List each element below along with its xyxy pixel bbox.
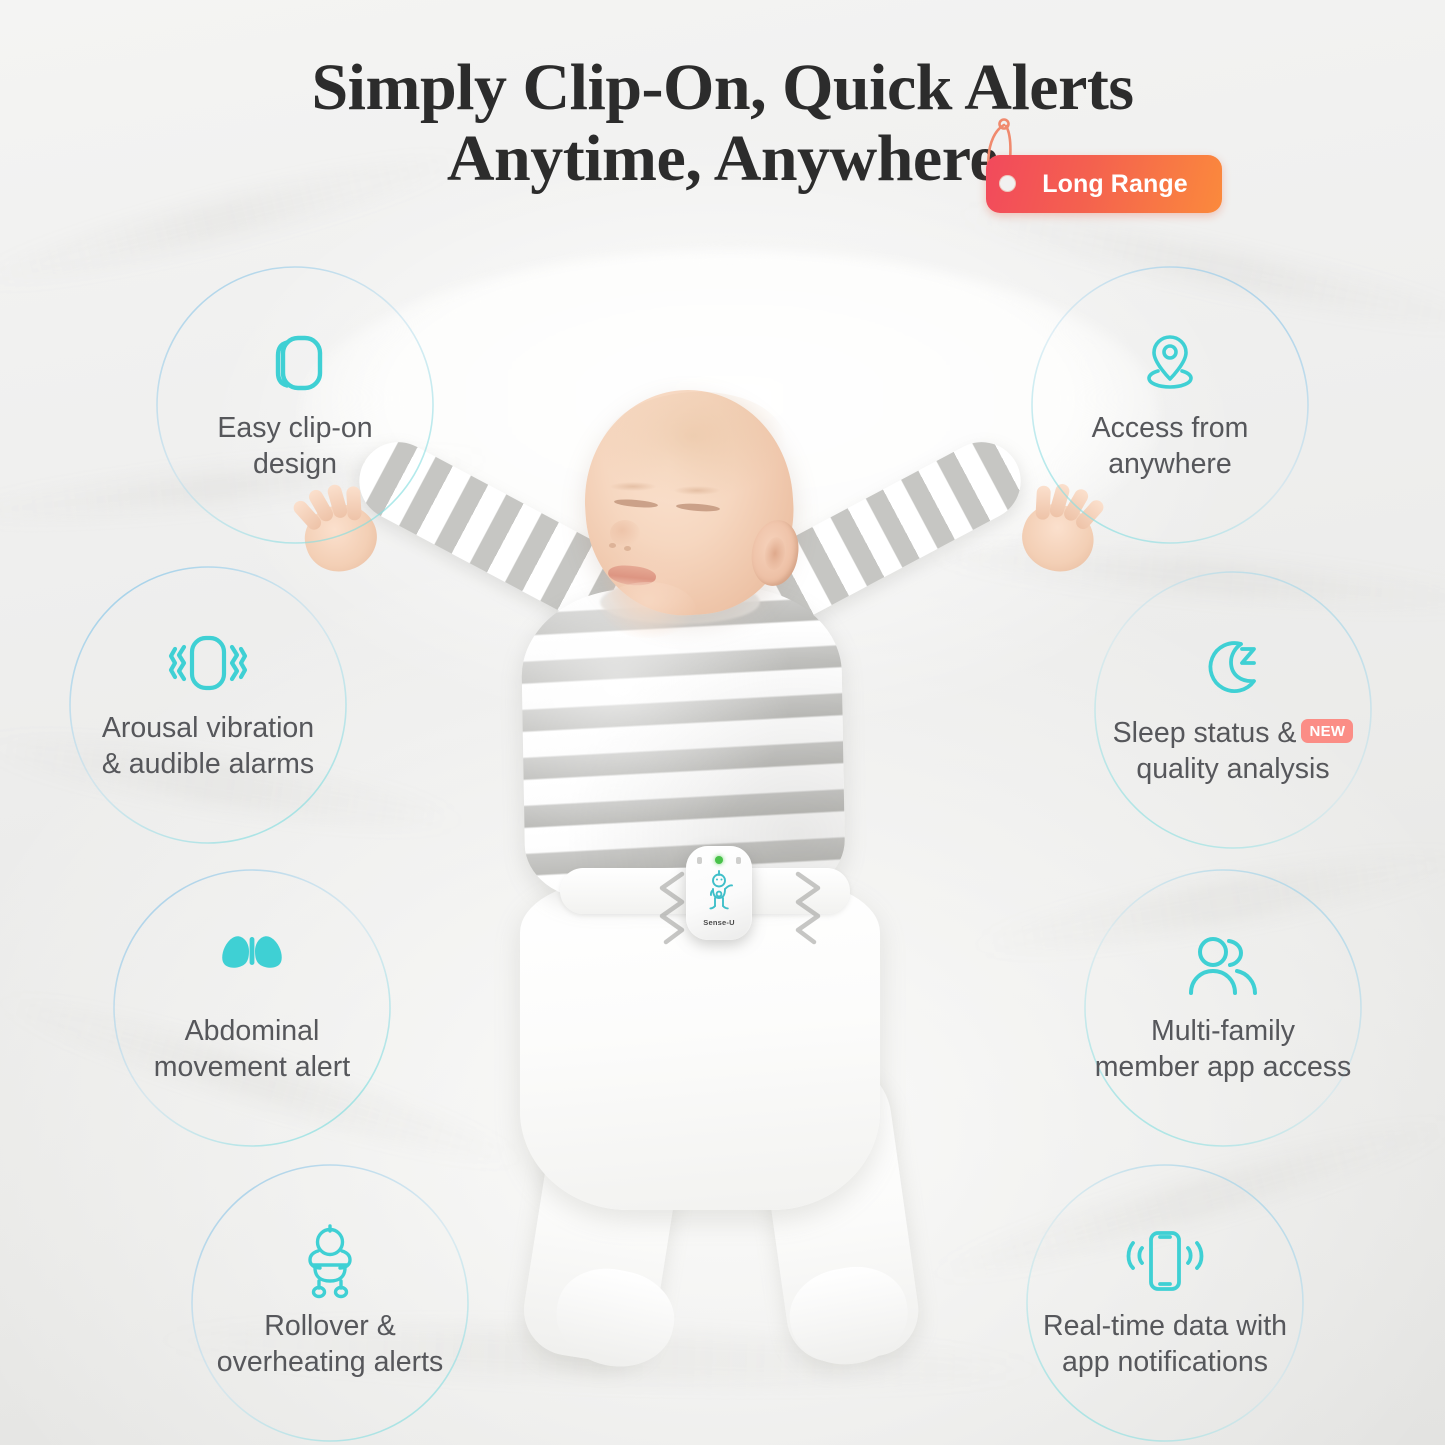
status-led-icon <box>715 856 723 864</box>
feature-label-line: Rollover & <box>217 1308 444 1344</box>
feature-label-line: movement alert <box>154 1049 350 1085</box>
feature-sleep-status: Sleep status &NEW quality analysis <box>1093 570 1373 850</box>
feature-access-from-anywhere: Access from anywhere <box>1030 265 1310 545</box>
feature-label-line: design <box>217 446 372 482</box>
feature-easy-clip-on: Easy clip-on design <box>155 265 435 545</box>
feature-label: Rollover & overheating alerts <box>217 1308 444 1381</box>
feature-label: Access from anywhere <box>1092 410 1249 483</box>
battery-led-icon <box>697 857 702 864</box>
new-badge: NEW <box>1301 719 1353 743</box>
headline-line-2: Anytime, Anywhere <box>447 123 998 194</box>
feature-label-line: Easy clip-on <box>217 410 372 446</box>
feature-label-line: & audible alarms <box>102 746 314 782</box>
baby-rollover-icon <box>299 1226 361 1296</box>
infographic-canvas: Sense-U Simply Clip-On, Quick Alerts Any… <box>0 0 1445 1445</box>
feature-label: Sleep status &NEW quality analysis <box>1113 715 1354 788</box>
feature-label-line: Sleep status &NEW <box>1113 715 1354 751</box>
location-pin-icon <box>1136 328 1204 398</box>
feature-label-line: Arousal vibration <box>102 710 314 746</box>
feature-label-line: quality analysis <box>1113 751 1354 787</box>
feature-label-line: anywhere <box>1092 446 1249 482</box>
page-title: Simply Clip-On, Quick Alerts Anytime, An… <box>0 52 1445 195</box>
headline-line-1: Simply Clip-On, Quick Alerts <box>0 52 1445 123</box>
long-range-label: Long Range <box>1020 170 1187 199</box>
feature-abdominal-movement: Abdominal movement alert <box>112 868 392 1148</box>
feature-arousal-vibration: Arousal vibration & audible alarms <box>68 565 348 845</box>
feature-multi-family-access: Multi-family member app access <box>1083 868 1363 1148</box>
feature-label-line: Real-time data with <box>1043 1308 1287 1344</box>
two-people-icon <box>1185 931 1261 1001</box>
clip-on-icon <box>261 328 329 398</box>
device-led-row <box>697 856 741 864</box>
feature-label-line: overheating alerts <box>217 1344 444 1380</box>
vibration-alarm-icon <box>157 628 259 698</box>
feature-label: Arousal vibration & audible alarms <box>102 710 314 783</box>
device-brand-label: Sense-U <box>703 918 734 927</box>
phone-notification-icon <box>1115 1226 1215 1296</box>
lungs-icon <box>216 931 288 1001</box>
vibration-lines-right <box>774 868 844 946</box>
feature-label: Multi-family member app access <box>1095 1013 1352 1086</box>
long-range-tag: Long Range <box>986 155 1222 213</box>
feature-label-line: Abdominal <box>154 1013 350 1049</box>
feature-label: Real-time data with app notifications <box>1043 1308 1287 1381</box>
moon-sleep-icon <box>1197 633 1269 703</box>
feature-rollover-overheating: Rollover & overheating alerts <box>190 1163 470 1443</box>
feature-label: Easy clip-on design <box>217 410 372 483</box>
device-baby-logo-icon <box>701 868 737 917</box>
baby-nose <box>610 520 640 546</box>
long-range-pill: Long Range <box>986 155 1222 213</box>
feature-label-line: app notifications <box>1043 1344 1287 1380</box>
feature-label-line: Multi-family <box>1095 1013 1352 1049</box>
sense-u-baby-monitor-device: Sense-U <box>686 846 752 940</box>
tag-hole-icon <box>999 175 1016 192</box>
feature-label-line: Access from <box>1092 410 1249 446</box>
feature-realtime-notifications: Real-time data with app notifications <box>1025 1163 1305 1443</box>
feature-label-line: member app access <box>1095 1049 1352 1085</box>
feature-label-text: Sleep status & <box>1113 717 1297 749</box>
feature-label: Abdominal movement alert <box>154 1013 350 1086</box>
power-led-icon <box>736 857 741 864</box>
